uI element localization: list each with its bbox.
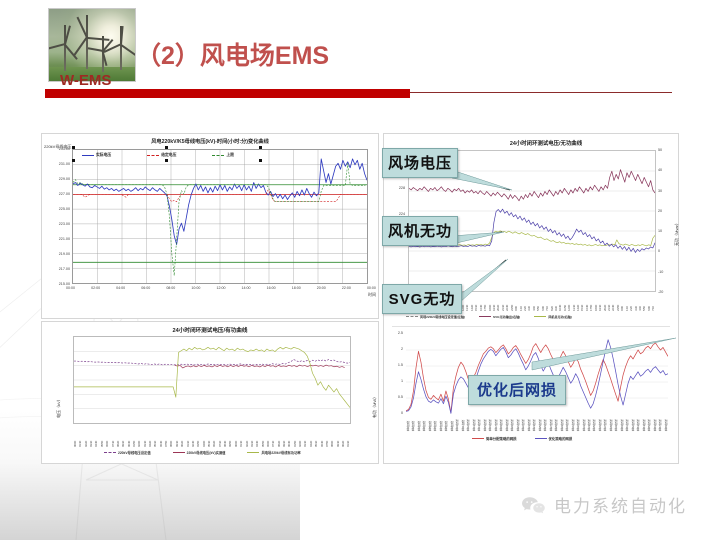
xtick: 05:30 (153, 425, 157, 447)
xtick: 06:00 (105, 425, 109, 447)
xtick: 19:10 (598, 293, 602, 311)
xtick: 06:40 (159, 425, 163, 447)
xtick: 06:40 (320, 425, 324, 447)
xtick: 01:10 (239, 425, 243, 447)
xtick: 第38时段 (609, 415, 613, 431)
xtick: 07:10 (111, 425, 115, 447)
ytick: 231.00 (42, 162, 70, 166)
xtick: 第41时段 (625, 415, 629, 431)
xtick: 第42时段 (631, 415, 635, 431)
xtick: 第12时段 (466, 415, 470, 431)
xtick: 第9时段 (450, 415, 454, 431)
xtick: 第15时段 (483, 415, 487, 431)
legend-label: 220kV母线电压设定值 (118, 450, 151, 455)
chart-right-bottom-legend: 简单分配策略的网损 优化策略的网损 (472, 436, 572, 441)
xtick: 第29时段 (560, 415, 564, 431)
xtick: 第7时段 (439, 415, 443, 431)
xtick: 07:50 (325, 425, 329, 447)
xtick: 00:20 (341, 425, 345, 447)
ytick: 228 (384, 186, 405, 190)
xtick: 09:30 (282, 425, 286, 447)
xtick: 5:50 (536, 293, 540, 311)
xtick: 03:10 (143, 425, 147, 447)
chart-top-left-xticks: 00:0002:0004:0006:0008:0010:0012:0014:00… (66, 286, 376, 290)
ytick: 20 (658, 209, 672, 213)
xtick: 06:00 (266, 425, 270, 447)
legend-label: 风机总无功(右轴) (548, 314, 572, 319)
chart-bottom-left-xticks: 00:0001:1002:2003:3004:4005:5006:0007:10… (73, 425, 351, 447)
xtick: 09:50 (228, 425, 232, 447)
xtick: 00:20 (180, 425, 184, 447)
xtick: 第45时段 (647, 415, 651, 431)
xtick: 13:10 (465, 293, 469, 311)
chart-top-left-plot (72, 149, 368, 284)
legend-label: 实际电压 (96, 153, 111, 158)
xtick: 00:00 (234, 425, 238, 447)
legend-label: 220kV母线电压(kV)实测值 (187, 450, 226, 455)
xtick: 第44时段 (642, 415, 646, 431)
legend-label: 给定电压 (161, 153, 176, 158)
xtick: 20:00 (317, 286, 326, 290)
wechat-icon (520, 495, 546, 515)
xtick: 第48时段 (664, 415, 668, 431)
xtick: 第36时段 (598, 415, 602, 431)
xtick: 15:30 (474, 293, 478, 311)
xtick: 17:50 (589, 293, 593, 311)
xtick: 第8时段 (444, 415, 448, 431)
chart-bottom-left-ylabel-right: 有功（MW） (372, 395, 378, 418)
ytick: 40 (658, 168, 672, 172)
xtick: 22:40 (505, 293, 509, 311)
xtick: 08:00 (166, 286, 175, 290)
callout-svg-reactive[interactable]: SVG无功 (382, 284, 462, 314)
xtick: 7:10 (651, 293, 655, 311)
xtick: 14:00 (242, 286, 251, 290)
xtick: 03:10 (303, 425, 307, 447)
xtick: 第30时段 (565, 415, 569, 431)
legend-label: SVG无功输出(右轴) (493, 314, 520, 319)
ytick: 10 (658, 229, 672, 233)
xtick: 第11时段 (461, 415, 465, 431)
xtick: 第31时段 (571, 415, 575, 431)
xtick: 22:40 (611, 293, 615, 311)
ytick: 219.00 (42, 252, 70, 256)
xtick: 08:20 (277, 425, 281, 447)
chart-bottom-left-title: 24小时闭环测试电压/有功曲线 (42, 326, 378, 334)
xtick: 第19时段 (505, 415, 509, 431)
footer-watermark-text: 电力系统自动化 (554, 492, 687, 517)
xtick: 08:00 (169, 425, 173, 447)
xtick: 第35时段 (592, 415, 596, 431)
ytick: 30 (658, 189, 672, 193)
xtick: 10:00 (191, 286, 200, 290)
ytick: 217.00 (42, 267, 70, 271)
xtick: 09:10 (175, 425, 179, 447)
xtick: 04:20 (309, 425, 313, 447)
chart-top-left-xlabel: 时间 (368, 292, 376, 298)
xtick: 05:50 (261, 425, 265, 447)
xtick: 第43时段 (636, 415, 640, 431)
xtick: 06:20 (212, 425, 216, 447)
xtick: 第14时段 (477, 415, 481, 431)
xtick: 09:10 (336, 425, 340, 447)
xtick: 05:30 (314, 425, 318, 447)
xtick: 08:40 (223, 425, 227, 447)
xtick: 2:20 (629, 293, 633, 311)
ytick: -20 (658, 290, 672, 294)
xtick: 13:10 (572, 293, 576, 311)
xtick: 00:00 (367, 286, 376, 290)
callout-label: 风场电压 (388, 156, 452, 171)
xtick: 第22时段 (521, 415, 525, 431)
xtick: 04:00 (116, 286, 125, 290)
chart-bottom-left-plot (73, 336, 351, 424)
xtick: 1:10 (519, 293, 523, 311)
chart-right-top-ylabel: 无功（Mvar） (674, 221, 680, 246)
xtick: 第25时段 (538, 415, 542, 431)
xtick: 08:20 (116, 425, 120, 447)
legend-label: 优化策略的网损 (549, 436, 573, 441)
xtick: 00:40 (127, 425, 131, 447)
xtick: 5:50 (642, 293, 646, 311)
ytick: 2 (384, 347, 403, 351)
xtick: 16:00 (267, 286, 276, 290)
callout-label: SVG无功 (389, 292, 456, 307)
legend-label: 上限 (226, 153, 234, 158)
xtick: 第47时段 (658, 415, 662, 431)
xtick: 第18时段 (499, 415, 503, 431)
wind-farm-logo (48, 8, 136, 82)
callout-turbine-reactive[interactable]: 风机无功 (382, 216, 458, 246)
chart-bottom-left-panel: 24小时闭环测试电压/有功曲线 电压（kV） 有功（MW） 00:0001:10… (41, 321, 379, 464)
xtick: 10:40 (558, 293, 562, 311)
chart-bottom-left-ylabel-left: 电压（kV） (56, 397, 62, 418)
xtick: 第32时段 (576, 415, 580, 431)
ytick: 0 (384, 411, 403, 415)
ytick: 233.00 (42, 147, 70, 151)
xtick: 第46时段 (653, 415, 657, 431)
xtick: 3:30 (527, 293, 531, 311)
xtick: 01:10 (78, 425, 82, 447)
xtick: 12:00 (567, 293, 571, 311)
xtick: 07:10 (271, 425, 275, 447)
right-panel-divider (392, 326, 670, 327)
legend-label: 简单分配策略的网损 (486, 436, 517, 441)
xtick: 02:00 (137, 425, 141, 447)
chart-top-left-title: 风电220kV/K5母线电压(kV)-时间(小时:分)变化曲线 (42, 138, 378, 145)
ytick: 227.00 (42, 192, 70, 196)
xtick: 第34时段 (587, 415, 591, 431)
slide-root: （2）风电场EMS W-EMS 风电220kV/K5母线电压(kV)-时间(小时… (0, 0, 720, 540)
chart-bottom-left-legend: 220kV母线电压设定值 220kV母线电压(kV)实测值 风电场220kV母线… (104, 450, 301, 455)
callout-optimized-loss[interactable]: 优化后网损 (468, 375, 566, 405)
footer-watermark: 电力系统自动化 (520, 492, 687, 517)
xtick: 20:20 (496, 293, 500, 311)
chart-right-bottom-xticks: 第1时段第2时段第3时段第4时段第5时段第6时段第7时段第8时段第9时段第10时… (406, 415, 668, 431)
xtick: 0:00 (514, 293, 518, 311)
xtick: 02:40 (191, 425, 195, 447)
xtick: 第23时段 (527, 415, 531, 431)
legend-label: 风电场220kV母线有功功率 (261, 450, 300, 455)
xtick: 第6时段 (433, 415, 437, 431)
xtick: 第10时段 (455, 415, 459, 431)
ytick: 221.00 (42, 237, 70, 241)
xtick: 04:40 (94, 425, 98, 447)
chart-top-left-legend: 实际电压 给定电压 上限 (82, 153, 234, 158)
xtick: 第28时段 (554, 415, 558, 431)
xtick: 01:30 (346, 425, 350, 447)
callout-label: 优化后网损 (477, 383, 557, 398)
xtick: 第24时段 (532, 415, 536, 431)
xtick: 第1时段 (406, 415, 410, 431)
ytick: 0 (658, 249, 672, 253)
xtick: 01:50 (132, 425, 136, 447)
xtick: 04:40 (255, 425, 259, 447)
xtick: 第13时段 (472, 415, 476, 431)
xtick: 05:50 (100, 425, 104, 447)
xtick: 04:20 (148, 425, 152, 447)
xtick: 0:00 (620, 293, 624, 311)
ytick: 223.00 (42, 222, 70, 226)
xtick: 00:00 (73, 425, 77, 447)
xtick: 07:50 (164, 425, 168, 447)
ytick: 50 (658, 148, 672, 152)
ytick: 225.00 (42, 207, 70, 211)
xtick: 22:00 (342, 286, 351, 290)
xtick: 00:40 (287, 425, 291, 447)
xtick: 03:30 (89, 425, 93, 447)
xtick: 01:30 (186, 425, 190, 447)
xtick: 第17时段 (494, 415, 498, 431)
ytick: 1 (384, 379, 403, 383)
xtick: 02:00 (298, 425, 302, 447)
xtick: 18:00 (488, 293, 492, 311)
xtick: 第3时段 (417, 415, 421, 431)
ytick: -10 (658, 270, 672, 274)
xtick: 第4时段 (422, 415, 426, 431)
xtick: 03:50 (196, 425, 200, 447)
xtick: 03:30 (250, 425, 254, 447)
xtick: 02:00 (91, 286, 100, 290)
title-rule-thin (410, 92, 672, 93)
xtick: 第16时段 (488, 415, 492, 431)
chart-right-top-legend: 风场220kV母线电压设定值(左轴) SVG无功输出(右轴) 风机总无功(右轴) (406, 314, 572, 319)
xtick: 7:10 (545, 293, 549, 311)
xtick: 第40时段 (620, 415, 624, 431)
xtick: 第5时段 (428, 415, 432, 431)
xtick: 第2时段 (411, 415, 415, 431)
xtick: 15:30 (580, 293, 584, 311)
xtick: 08:00 (330, 425, 334, 447)
xtick: 第26时段 (543, 415, 547, 431)
ytick: 0.5 (384, 395, 403, 399)
title-rule-thick (45, 89, 410, 98)
xtick: 02:20 (84, 425, 88, 447)
xtick: 17:50 (483, 293, 487, 311)
page-subtitle: W-EMS (60, 72, 111, 89)
xtick: 第39时段 (614, 415, 618, 431)
chart-top-left-panel: 风电220kV/K5母线电压(kV)-时间(小时:分)变化曲线 220kV母线电… (41, 133, 379, 319)
xtick: 00:00 (66, 286, 75, 290)
xtick: 04:00 (202, 425, 206, 447)
callout-wind-farm-voltage[interactable]: 风场电压 (382, 148, 458, 178)
xtick: 第33时段 (582, 415, 586, 431)
xtick: 01:50 (293, 425, 297, 447)
xtick: 07:30 (218, 425, 222, 447)
xtick: 18:00 (292, 286, 301, 290)
xtick: 20:20 (603, 293, 607, 311)
xtick: 第21时段 (516, 415, 520, 431)
xtick: 第27时段 (549, 415, 553, 431)
legend-label: 风场220kV母线电压设定值(左轴) (420, 314, 465, 319)
xtick: 8:20 (550, 293, 554, 311)
xtick: 第37时段 (603, 415, 607, 431)
xtick: 06:00 (141, 286, 150, 290)
xtick: 第20时段 (510, 415, 514, 431)
ytick: 2.5 (384, 331, 403, 335)
xtick: 12:00 (216, 286, 225, 290)
xtick: 02:20 (245, 425, 249, 447)
xtick: 05:10 (207, 425, 211, 447)
chart-right-top-title: 24小时闭环测试电压/无功曲线 (424, 139, 668, 147)
xtick: 3:30 (634, 293, 638, 311)
xtick: 09:30 (121, 425, 125, 447)
ytick: 1.5 (384, 363, 403, 367)
callout-label: 风机无功 (388, 224, 452, 239)
page-title: （2）风电场EMS (136, 36, 329, 72)
ytick: 229.00 (42, 177, 70, 181)
